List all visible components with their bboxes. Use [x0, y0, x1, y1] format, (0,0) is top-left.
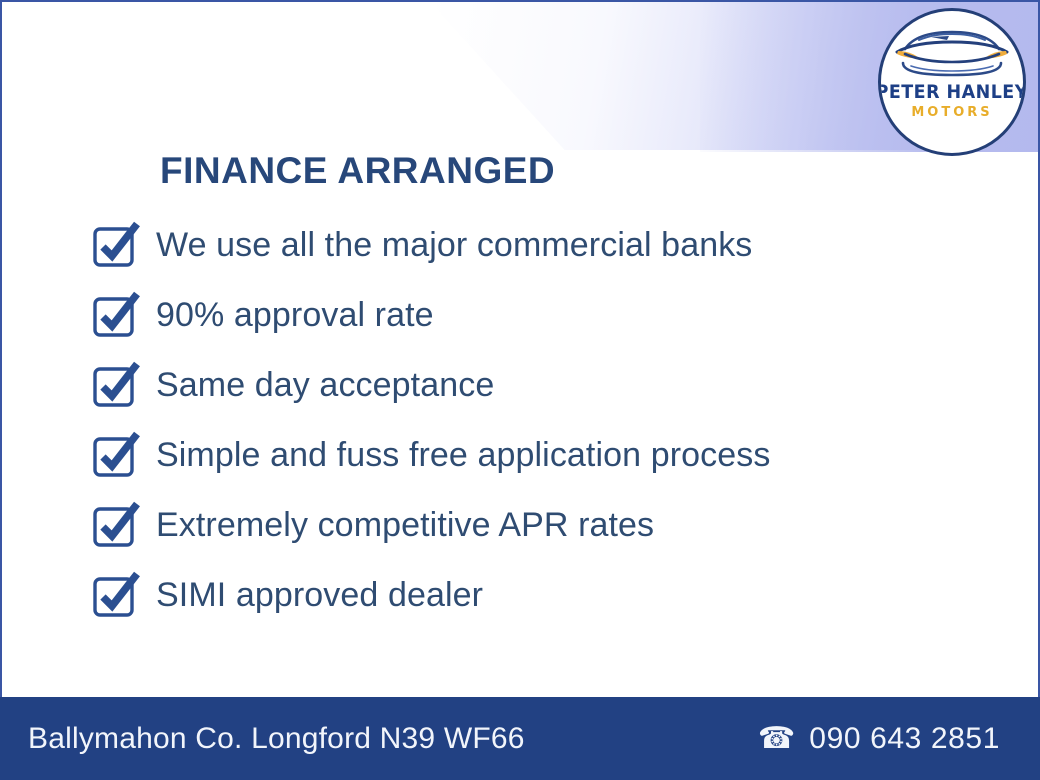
finance-arranged-poster: PETER HANLEY MOTORS FINANCE ARRANGED We … [0, 0, 1040, 780]
checkbox-checked-icon [92, 361, 140, 409]
logo-name-text: PETER HANLEY [878, 81, 1026, 103]
list-item: SIMI approved dealer [92, 560, 770, 630]
dealer-logo-badge[interactable]: PETER HANLEY MOTORS [878, 8, 1026, 156]
phone-contact[interactable]: ☎ 090 643 2851 [758, 722, 1000, 756]
telephone-icon: ☎ [758, 724, 795, 754]
checkbox-checked-icon [92, 431, 140, 479]
dealer-address: Ballymahon Co. Longford N39 WF66 [28, 722, 525, 756]
list-item-label: We use all the major commercial banks [156, 228, 752, 262]
checkbox-checked-icon [92, 571, 140, 619]
list-item: Same day acceptance [92, 350, 770, 420]
list-item-label: Same day acceptance [156, 368, 494, 402]
checkbox-checked-icon [92, 291, 140, 339]
phone-number[interactable]: 090 643 2851 [809, 722, 1000, 756]
checkbox-checked-icon [92, 501, 140, 549]
list-item: We use all the major commercial banks [92, 210, 770, 280]
list-item: Simple and fuss free application process [92, 420, 770, 490]
list-item: 90% approval rate [92, 280, 770, 350]
contact-footer-bar: Ballymahon Co. Longford N39 WF66 ☎ 090 6… [0, 697, 1040, 780]
list-item-label: SIMI approved dealer [156, 578, 483, 612]
list-item-label: Extremely competitive APR rates [156, 508, 654, 542]
car-front-icon [889, 27, 1015, 79]
list-item-label: Simple and fuss free application process [156, 438, 770, 472]
benefits-checklist: We use all the major commercial banks 90… [92, 210, 770, 630]
logo-subtitle-text: MOTORS [911, 105, 992, 120]
list-item: Extremely competitive APR rates [92, 490, 770, 560]
checkbox-checked-icon [92, 221, 140, 269]
list-item-label: 90% approval rate [156, 298, 434, 332]
page-title: FINANCE ARRANGED [160, 150, 555, 192]
